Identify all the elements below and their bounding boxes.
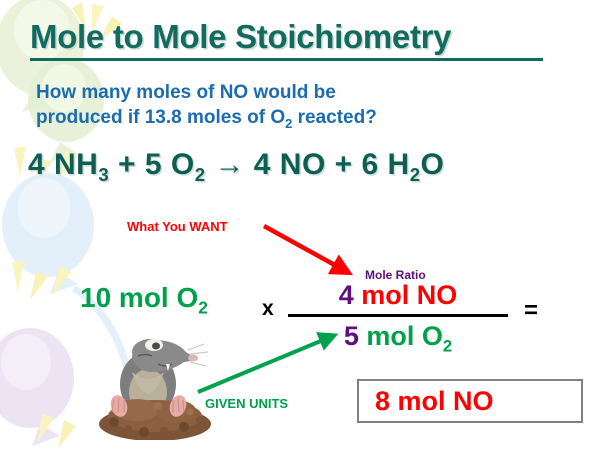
numerator-coefficient: 4 bbox=[339, 280, 362, 310]
annotation-what-you-want: What You WANT bbox=[127, 219, 228, 234]
equation-plus-2: + bbox=[326, 148, 362, 181]
given-quantity-subscript: 2 bbox=[198, 298, 208, 318]
question-line-2-prefix: produced if 13.8 moles of O bbox=[36, 107, 285, 128]
answer-text: 8 mol NO bbox=[375, 386, 494, 417]
mole-ratio-fraction: 4 mol NO 5 mol O2 bbox=[288, 278, 508, 363]
equation-h2o-coefficient: 6 H bbox=[362, 148, 410, 181]
page-title: Mole to Mole Stoichiometry bbox=[30, 18, 451, 56]
denominator-unit: mol O bbox=[366, 321, 443, 351]
equation-no-coefficient: 4 NO bbox=[254, 148, 326, 181]
equation-yields-arrow-icon: → bbox=[206, 148, 254, 181]
mole-mascot-illustration bbox=[92, 332, 218, 440]
title-underline bbox=[30, 58, 543, 61]
fraction-numerator: 4 mol NO bbox=[288, 278, 508, 312]
equation-h2o-subscript: 2 bbox=[410, 164, 421, 185]
equation-o2-coefficient: 5 O bbox=[145, 148, 195, 181]
equation-o2-subscript: 2 bbox=[195, 164, 206, 185]
question-text: How many moles of NO would be produced i… bbox=[36, 80, 556, 136]
equals-sign: = bbox=[524, 297, 538, 325]
numerator-unit: mol NO bbox=[361, 280, 457, 310]
question-line-2-suffix: reacted? bbox=[292, 107, 376, 128]
fraction-denominator: 5 mol O2 bbox=[288, 319, 508, 363]
equation-plus-1: + bbox=[109, 148, 145, 181]
equation-h2o-oxygen: O bbox=[421, 148, 445, 181]
denominator-coefficient: 5 bbox=[344, 321, 367, 351]
denominator-subscript: 2 bbox=[443, 336, 452, 355]
multiplication-sign: x bbox=[262, 297, 274, 321]
equation-nh3-coefficient: 4 NH bbox=[28, 148, 98, 181]
fraction-bar bbox=[288, 314, 508, 317]
given-quantity: 10 mol O2 bbox=[80, 282, 208, 319]
question-line-1: How many moles of NO would be bbox=[36, 82, 336, 103]
slide-canvas: Mole to Mole Stoichiometry How many mole… bbox=[0, 0, 600, 450]
chemical-equation: 4 NH3 + 5 O2 → 4 NO + 6 H2O bbox=[28, 148, 444, 186]
given-quantity-value: 10 mol O bbox=[80, 282, 198, 313]
equation-nh3-subscript: 3 bbox=[98, 164, 109, 185]
